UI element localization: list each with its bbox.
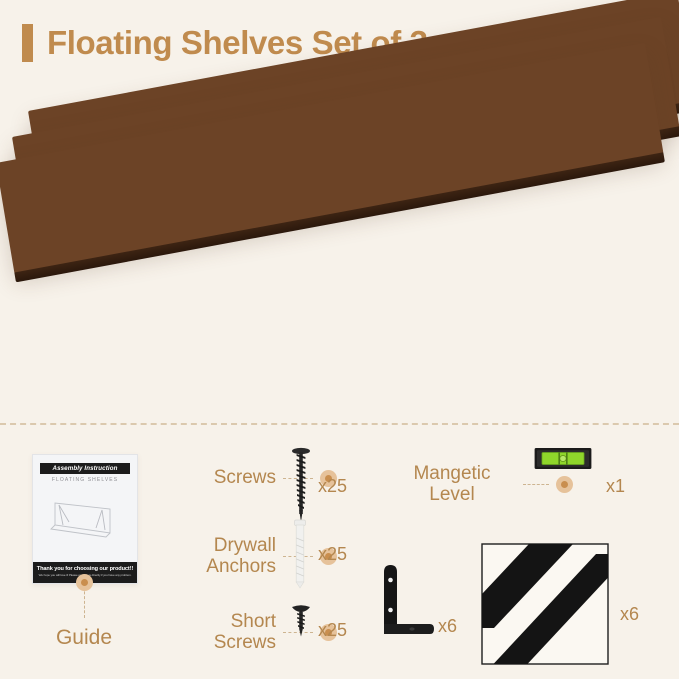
qty-magnetic-level: x1	[606, 476, 625, 497]
l-bracket-icon	[378, 562, 434, 640]
part-label-line2: Level	[388, 485, 516, 506]
screw-icon	[290, 446, 312, 524]
guide-label: Guide	[32, 626, 136, 650]
part-label-line2: Anchors	[158, 557, 276, 578]
part-label-line1: Short	[158, 612, 276, 633]
qty-drywall-anchors: x25	[318, 544, 347, 565]
shelf-stack	[0, 85, 679, 385]
booklet-footer-main: Thank you for choosing our product!!	[33, 566, 137, 572]
booklet-subheading: FLOATING SHELVES	[33, 477, 137, 483]
section-divider	[0, 423, 679, 425]
product-hero-image	[0, 85, 679, 385]
part-label-short-screws: Short Screws	[158, 612, 276, 653]
qty-short-screws: x25	[318, 620, 347, 641]
drywall-anchor-icon	[288, 518, 312, 590]
booklet-heading: Assembly Instruction	[40, 463, 130, 474]
accessories-section: Assembly Instruction FLOATING SHELVES Th…	[0, 432, 679, 679]
qty-adhesive-strip: x6	[620, 604, 639, 625]
part-label-screws: Screws	[158, 468, 276, 489]
title-accent-bar	[22, 24, 33, 62]
guide-group: Assembly Instruction FLOATING SHELVES Th…	[32, 454, 152, 584]
bubble-level-icon	[534, 446, 592, 472]
shelf-diagram-icon	[47, 495, 123, 547]
qty-screws: x25	[318, 476, 347, 497]
adhesive-strip-icon	[480, 542, 610, 666]
shelf-edge	[14, 152, 665, 282]
part-label-line1: Drywall	[158, 536, 276, 557]
connector-dot	[556, 476, 573, 493]
short-screw-icon	[290, 604, 312, 638]
guide-connector-dot	[76, 574, 93, 591]
leader-line	[523, 484, 549, 485]
part-label-line1: Mangetic	[388, 464, 516, 485]
part-label-drywall-anchors: Drywall Anchors	[158, 536, 276, 577]
qty-l-bracket: x6	[438, 616, 457, 637]
part-label-line2: Screws	[158, 633, 276, 654]
assembly-instruction-booklet: Assembly Instruction FLOATING SHELVES Th…	[32, 454, 138, 584]
part-label-magnetic-level: Mangetic Level	[388, 464, 516, 505]
